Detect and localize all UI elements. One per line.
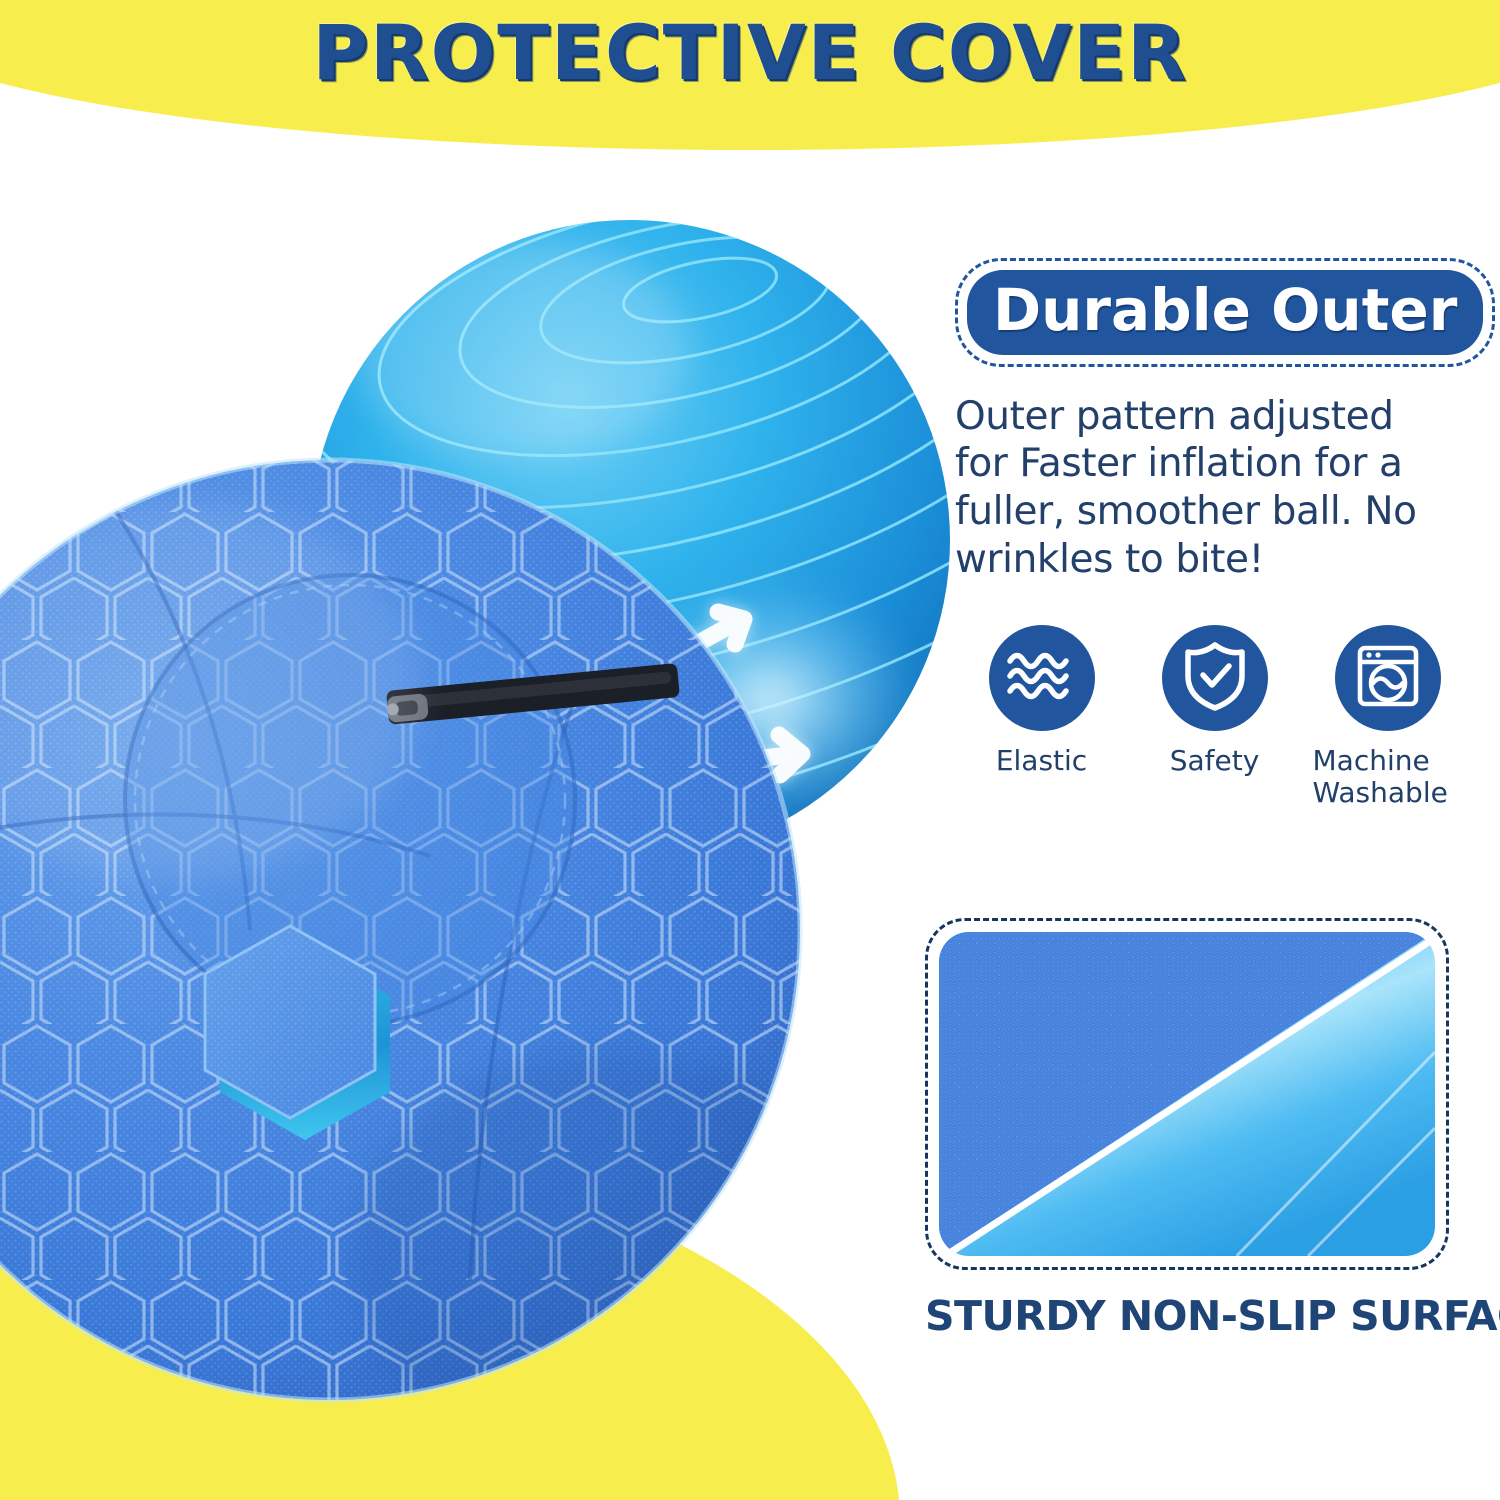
black-zipper-with-pull-tab	[386, 663, 680, 725]
feature-label: Elastic	[996, 745, 1087, 777]
durable-outer-badge: Durable Outer	[955, 258, 1495, 367]
surface-comparison-image	[939, 932, 1435, 1256]
feature-icon-circle	[1162, 625, 1268, 731]
feature-safety: Safety	[1128, 625, 1301, 809]
waves-icon	[1005, 645, 1079, 712]
expansion-arrows	[686, 612, 810, 1046]
feature-icon-circle	[1335, 625, 1441, 731]
yellow-bottom-blob	[0, 1135, 900, 1500]
product-infographic: PROTECTIVE COVER	[0, 0, 1500, 1500]
shield-check-icon	[1182, 640, 1248, 717]
description-text: Outer pattern adjusted for Faster inflat…	[955, 393, 1455, 583]
feature-label: Safety	[1170, 745, 1260, 777]
right-content-column: Durable Outer Outer pattern adjusted for…	[955, 258, 1475, 809]
feature-label: Machine Washable	[1313, 745, 1463, 809]
non-slip-surface-panel: STURDY NON-SLIP SURFACE	[925, 918, 1481, 1340]
feature-icon-circle	[989, 625, 1095, 731]
feature-icon-row: Elastic Safety	[955, 625, 1475, 809]
page-title: PROTECTIVE COVER	[0, 8, 1500, 97]
raised-hexagon-patch	[205, 926, 390, 1140]
feature-elastic: Elastic	[955, 625, 1128, 809]
surface-caption: STURDY NON-SLIP SURFACE	[925, 1292, 1481, 1340]
surface-dashed-frame	[925, 918, 1449, 1270]
feature-machine-washable: Machine Washable	[1301, 625, 1474, 809]
badge-fill: Durable Outer	[967, 270, 1483, 355]
washing-machine-icon	[1353, 641, 1423, 716]
badge-label: Durable Outer	[993, 280, 1457, 341]
